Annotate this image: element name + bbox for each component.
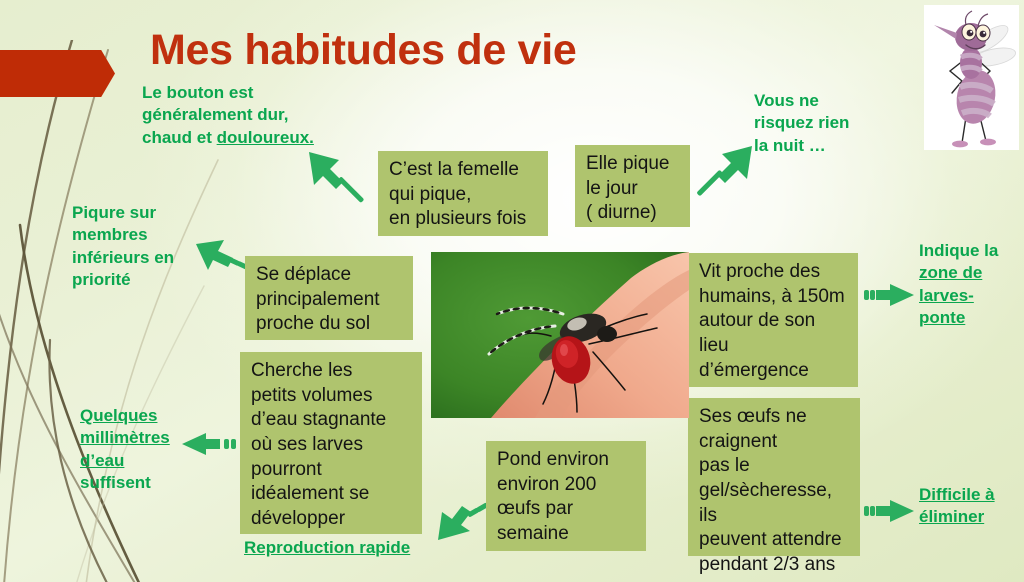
note-indique-underlined: zone de larves- ponte xyxy=(919,263,982,327)
note-indique-text: Indique la xyxy=(919,241,998,260)
note-difficile-underlined: Difficile à éliminer xyxy=(919,485,995,526)
arrow-to-difficile-icon xyxy=(864,494,920,528)
slide-canvas: Mes habitudes de vie Le bouton est génér… xyxy=(0,0,1024,582)
arrow-to-bouton-icon xyxy=(303,146,369,210)
box-se-deplace: Se déplace principalement proche du sol xyxy=(245,256,413,340)
note-bouton-underlined: douloureux. xyxy=(217,128,314,147)
note-nuit-text: Vous ne risquez rien la nuit … xyxy=(754,91,849,155)
note-piqure-membres: Piqure sur membres inférieurs en priorit… xyxy=(72,202,232,292)
note-difficile-a-eliminer: Difficile à éliminer xyxy=(919,484,1023,529)
note-quelques-millimetres: Quelques millimètres d’eau suffisent xyxy=(80,405,240,495)
note-indique-zone-larves: Indique la zone de larves- ponte xyxy=(919,240,1024,330)
arrow-to-nuit-icon xyxy=(696,140,758,202)
note-reproduction-underlined: Reproduction rapide xyxy=(244,538,410,557)
box-femelle-pique: C’est la femelle qui pique, en plusieurs… xyxy=(378,151,548,236)
note-millimetres-text: suffisent xyxy=(80,473,151,492)
cartoon-mosquito-illustration xyxy=(924,5,1019,150)
box-pond-oeufs: Pond environ environ 200 œufs par semain… xyxy=(486,441,646,551)
note-membres-text: Piqure sur membres inférieurs en priorit… xyxy=(72,203,174,289)
page-title: Mes habitudes de vie xyxy=(150,26,577,75)
box-oeufs-resistants: Ses œufs ne craignent pas le gel/sèchere… xyxy=(688,398,860,556)
note-millimetres-underlined: Quelques millimètres d’eau xyxy=(80,406,170,470)
arrow-to-zone-larves-icon xyxy=(864,278,920,312)
red-arrow-banner xyxy=(0,50,115,97)
note-bouton-douloureux: Le bouton est généralement dur, chaud et… xyxy=(142,82,357,149)
note-vous-ne-risquez-rien: Vous ne risquez rien la nuit … xyxy=(754,90,924,157)
box-cherche-volumes: Cherche les petits volumes d’eau stagnan… xyxy=(240,352,422,534)
box-vit-proche: Vit proche des humains, à 150m autour de… xyxy=(688,253,858,387)
note-reproduction-rapide: Reproduction rapide xyxy=(244,537,444,559)
mosquito-photo xyxy=(431,252,689,418)
box-pique-le-jour: Elle pique le jour ( diurne) xyxy=(575,145,690,227)
